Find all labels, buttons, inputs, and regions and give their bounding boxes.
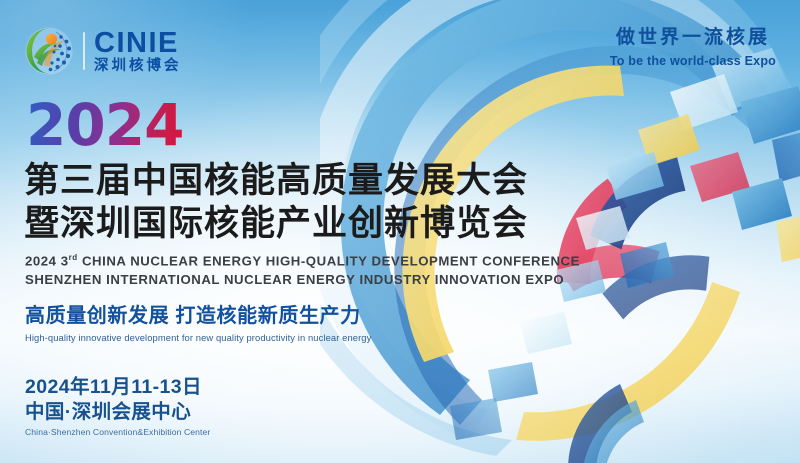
- cinie-circular-emblem: [24, 26, 74, 76]
- slogan-english: High-quality innovative development for …: [25, 332, 371, 344]
- motto-english: To be the world-class Expo: [610, 53, 776, 69]
- event-meta-block: 2024年11月11-13日 中国·深圳会展中心 China·Shenzhen …: [25, 376, 210, 438]
- headline-line-2: 暨深圳国际核能产业创新博览会: [24, 203, 528, 246]
- english-title-line-1: 2024 3rd CHINA NUCLEAR ENERGY HIGH-QUALI…: [25, 252, 580, 271]
- event-venue-chinese: 中国·深圳会展中心: [25, 401, 210, 425]
- english-title-line-2: SHENZHEN INTERNATIONAL NUCLEAR ENERGY IN…: [25, 271, 580, 290]
- ordinal-suffix: rd: [69, 253, 78, 262]
- english-title-rest: CHINA NUCLEAR ENERGY HIGH-QUALITY DEVELO…: [78, 253, 580, 268]
- logo-wordmark: CINIE 深圳核博会: [94, 29, 182, 74]
- slogan-block: 高质量创新发展 打造核能新质生产力 High-quality innovativ…: [25, 304, 371, 344]
- english-title-prefix: 2024 3: [25, 253, 69, 268]
- headline-block: 第三届中国核能高质量发展大会 暨深圳国际核能产业创新博览会: [24, 160, 528, 245]
- headline-line-1: 第三届中国核能高质量发展大会: [24, 160, 528, 203]
- motto-chinese: 做世界一流核展: [610, 27, 776, 50]
- event-date: 2024年11月11-13日: [25, 376, 210, 400]
- slogan-chinese: 高质量创新发展 打造核能新质生产力: [25, 304, 371, 328]
- year-2024: 2024: [26, 96, 183, 154]
- logo-brand-chinese: 深圳核博会: [94, 59, 182, 74]
- event-venue-english: China·Shenzhen Convention&Exhibition Cen…: [25, 427, 210, 438]
- cinie-logo: CINIE 深圳核博会: [24, 26, 182, 76]
- logo-divider: [83, 32, 85, 70]
- motto-block: 做世界一流核展 To be the world-class Expo: [610, 27, 776, 69]
- event-banner: CINIE 深圳核博会 做世界一流核展 To be the world-clas…: [0, 0, 800, 463]
- english-title-block: 2024 3rd CHINA NUCLEAR ENERGY HIGH-QUALI…: [25, 252, 580, 290]
- logo-brand-latin: CINIE: [94, 29, 182, 58]
